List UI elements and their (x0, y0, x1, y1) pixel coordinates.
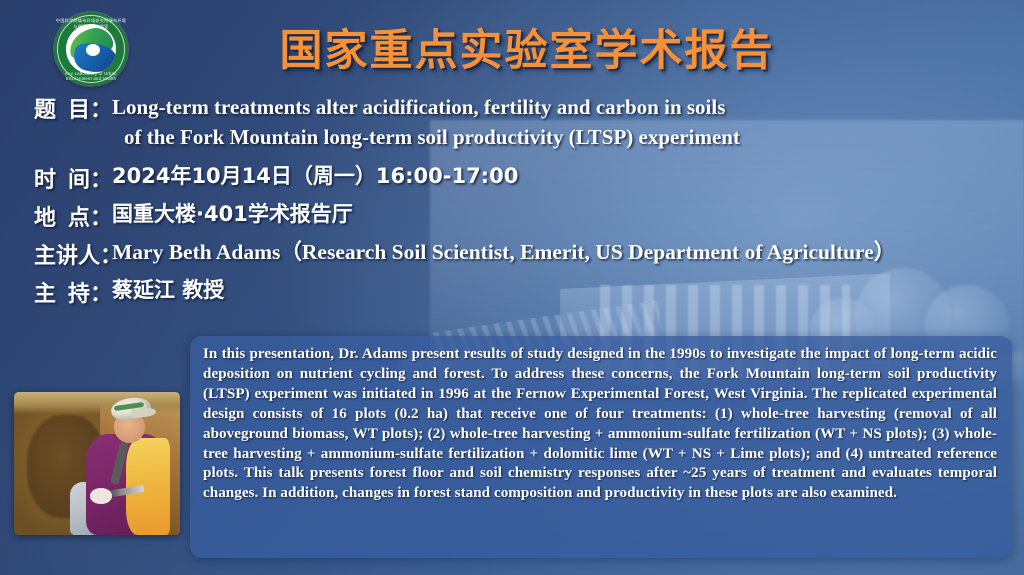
info-label-topic-right: 目： (68, 92, 112, 124)
info-label-time: 时 间： (0, 162, 112, 194)
info-label-place-left: 地 (34, 200, 56, 232)
info-value-topic: Long-term treatments alter acidification… (112, 92, 1024, 152)
info-label-host-left: 主 (34, 276, 56, 308)
info-label-host: 主 持： (0, 276, 112, 308)
info-row-time: 时 间： 2024年10月14日（周一）16:00-17:00 (0, 162, 1024, 194)
info-value-place: 国重大楼·401学术报告厅 (112, 200, 1024, 228)
info-value-time: 2024年10月14日（周一）16:00-17:00 (112, 162, 1024, 190)
info-label-time-right: 间： (68, 162, 112, 194)
info-value-topic-line2: of the Fork Mountain long-term soil prod… (112, 122, 1010, 152)
info-label-time-left: 时 (34, 162, 56, 194)
seminar-info-list: 题 目： Long-term treatments alter acidific… (0, 92, 1024, 314)
photo-person-hand (90, 488, 112, 504)
info-value-topic-line1: Long-term treatments alter acidification… (112, 95, 725, 119)
info-label-place-right: 点： (68, 200, 112, 232)
speaker-photo (14, 392, 180, 535)
info-row-host: 主 持： 蔡延江 教授 (0, 276, 1024, 308)
info-row-place: 地 点： 国重大楼·401学术报告厅 (0, 200, 1024, 232)
abstract-box: In this presentation, Dr. Adams present … (190, 336, 1012, 558)
page-title: 国家重点实验室学术报告 (0, 16, 1024, 78)
info-label-place: 地 点： (0, 200, 112, 232)
info-label-topic-left: 题 (34, 92, 56, 124)
poster-header: 中国科学院城市环境研究所城市环境与健康重点实验室 Key Laboratory … (0, 0, 1024, 88)
info-row-speaker: 主讲 人： Mary Beth Adams（Research Soil Scie… (0, 238, 1024, 270)
info-row-topic: 题 目： Long-term treatments alter acidific… (0, 92, 1024, 152)
info-label-speaker-left: 主讲 (34, 238, 78, 270)
info-label-host-right: 持： (68, 276, 112, 308)
info-label-speaker: 主讲 人： (0, 238, 112, 270)
info-value-speaker: Mary Beth Adams（Research Soil Scientist,… (112, 238, 1024, 266)
seminar-poster: 中国科学院城市环境研究所城市环境与健康重点实验室 Key Laboratory … (0, 0, 1024, 575)
info-label-topic: 题 目： (0, 92, 112, 124)
info-value-host: 蔡延江 教授 (112, 276, 1024, 304)
abstract-text: In this presentation, Dr. Adams present … (203, 345, 997, 504)
